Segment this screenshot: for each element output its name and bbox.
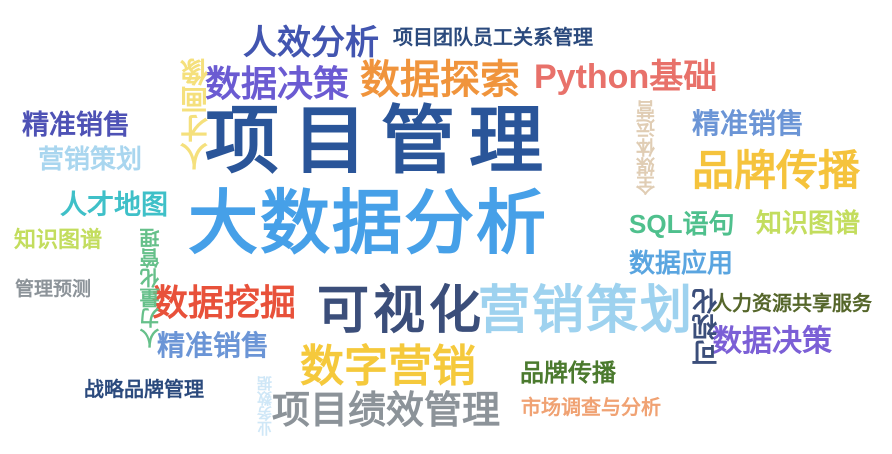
cloud-word: 知识图谱 bbox=[756, 210, 860, 236]
cloud-word: 项目团队员工关系管理 bbox=[393, 28, 593, 48]
cloud-word: 大数据分析 bbox=[188, 188, 548, 258]
cloud-word: 管理预测 bbox=[15, 280, 91, 299]
word-cloud-canvas: 项目管理大数据分析数据探索数据决策人效分析Python基础项目团队员工关系管理品… bbox=[0, 0, 892, 454]
cloud-word: 精准销售 bbox=[157, 332, 269, 360]
cloud-word: 项目管理 bbox=[205, 104, 557, 178]
cloud-word: SQL语句 bbox=[629, 211, 734, 237]
cloud-word: 人力量化管理 bbox=[142, 228, 162, 348]
cloud-word: 项目绩效管理 bbox=[272, 392, 500, 430]
cloud-word: 品牌传播 bbox=[520, 362, 616, 386]
cloud-word: 市场调查与分析 bbox=[521, 398, 661, 418]
cloud-word: 数据应用 bbox=[629, 250, 733, 276]
cloud-word: 可视化 bbox=[317, 285, 485, 337]
cloud-word: 全媒体运营 bbox=[638, 100, 657, 195]
cloud-word: 精准销售 bbox=[692, 110, 804, 138]
cloud-word: 数据决策 bbox=[205, 66, 349, 102]
cloud-word: 精准销售 bbox=[22, 112, 130, 139]
cloud-word: 可视化 bbox=[693, 288, 719, 366]
cloud-word: 人才画像 bbox=[182, 58, 210, 170]
cloud-word: 人效分析 bbox=[243, 26, 379, 60]
cloud-word: 营销策划 bbox=[478, 285, 694, 337]
cloud-word: 数据决策 bbox=[712, 327, 832, 357]
cloud-word: 数据探索 bbox=[360, 60, 520, 100]
cloud-word: 品牌传播 bbox=[692, 150, 860, 192]
cloud-word: 知识图谱 bbox=[14, 229, 102, 251]
cloud-word: 人才地图 bbox=[60, 192, 168, 219]
cloud-word: 业务数据 bbox=[258, 376, 273, 436]
cloud-word: 人力资源共享服务 bbox=[712, 294, 872, 314]
cloud-word: 数据挖掘 bbox=[152, 285, 296, 321]
cloud-word: 营销策划 bbox=[38, 146, 142, 172]
cloud-word: 数字营销 bbox=[300, 345, 476, 389]
cloud-word: Python基础 bbox=[534, 60, 717, 94]
cloud-word: 战略品牌管理 bbox=[84, 380, 204, 400]
